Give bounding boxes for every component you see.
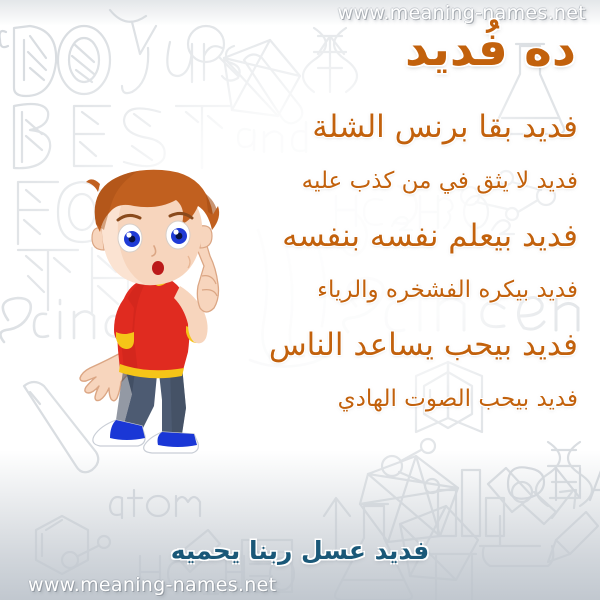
boy-left-arm bbox=[80, 350, 128, 401]
phrase-line: فديد بيحب يساعد الناس bbox=[198, 330, 578, 361]
poster-canvas: www.meaning-names.net ده فُديد فديد بقا … bbox=[0, 0, 600, 600]
boy-legs bbox=[116, 364, 186, 434]
phrase-line: فديد بيكره الفشخره والرياء bbox=[198, 279, 578, 302]
doodle-word-for bbox=[18, 182, 150, 244]
phrase-line: فديد بيحب الصوت الهادي bbox=[198, 388, 578, 411]
boy-shirt bbox=[114, 274, 203, 378]
phrase-list: فديد بقا برنس الشلة فديد لا يثق في من كذ… bbox=[198, 112, 578, 439]
phrase-line: فديد بقا برنس الشلة bbox=[198, 112, 578, 143]
page-title: ده فُديد bbox=[405, 22, 576, 77]
doodle-magnifier bbox=[188, 26, 238, 76]
doodle-word-atom bbox=[110, 490, 200, 518]
doodle-word-biology bbox=[0, 31, 8, 47]
doodle-word-dna bbox=[508, 467, 600, 500]
doodle-word-science-left bbox=[0, 298, 158, 342]
footer-phrase: فديد عسل ربنا يحميه bbox=[0, 536, 600, 565]
boy-shoes bbox=[93, 420, 199, 453]
doodle-word-the bbox=[18, 248, 184, 312]
phrase-line: فديد بيعلم نفسه بنفسه bbox=[198, 221, 578, 252]
watermark-bottom: www.meaning-names.net bbox=[28, 574, 276, 596]
boy-neck bbox=[150, 260, 170, 282]
phrase-line: فديد لا يثق في من كذب عليه bbox=[198, 170, 578, 193]
doodle-word-do-your bbox=[14, 22, 240, 96]
doodle-bar-chart bbox=[438, 470, 504, 536]
watermark-top: www.meaning-names.net bbox=[338, 2, 586, 24]
